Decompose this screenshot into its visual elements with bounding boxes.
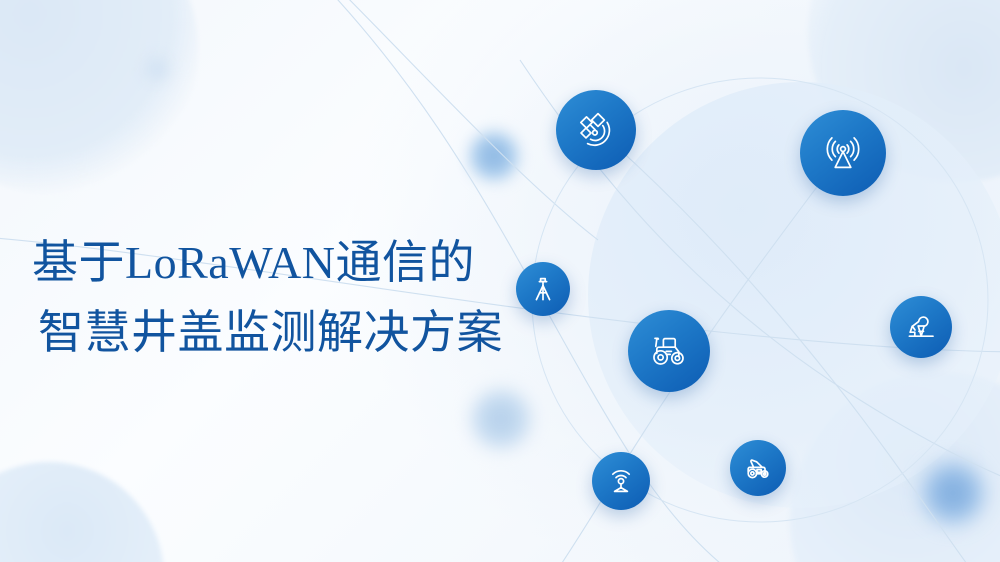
node-radio-tower[interactable] — [800, 110, 886, 196]
oil-pumpjack-icon — [904, 310, 938, 344]
title-line-2: 智慧井盖监测解决方案 — [32, 298, 592, 368]
slide-canvas: 基于LoRaWAN通信的 智慧井盖监测解决方案 — [0, 0, 1000, 562]
title-line-1: 基于LoRaWAN通信的 — [32, 228, 592, 298]
harvester-icon — [742, 452, 774, 484]
radio-tower-icon — [820, 130, 866, 176]
wireless-sensor-icon — [605, 465, 637, 497]
tractor-icon — [646, 328, 692, 374]
node-tractor[interactable] — [628, 310, 710, 392]
satellite-icon — [574, 108, 618, 152]
node-oil-pumpjack[interactable] — [890, 296, 952, 358]
title-block: 基于LoRaWAN通信的 智慧井盖监测解决方案 — [32, 228, 592, 368]
node-wireless-sensor[interactable] — [592, 452, 650, 510]
node-harvester[interactable] — [730, 440, 786, 496]
node-satellite[interactable] — [556, 90, 636, 170]
